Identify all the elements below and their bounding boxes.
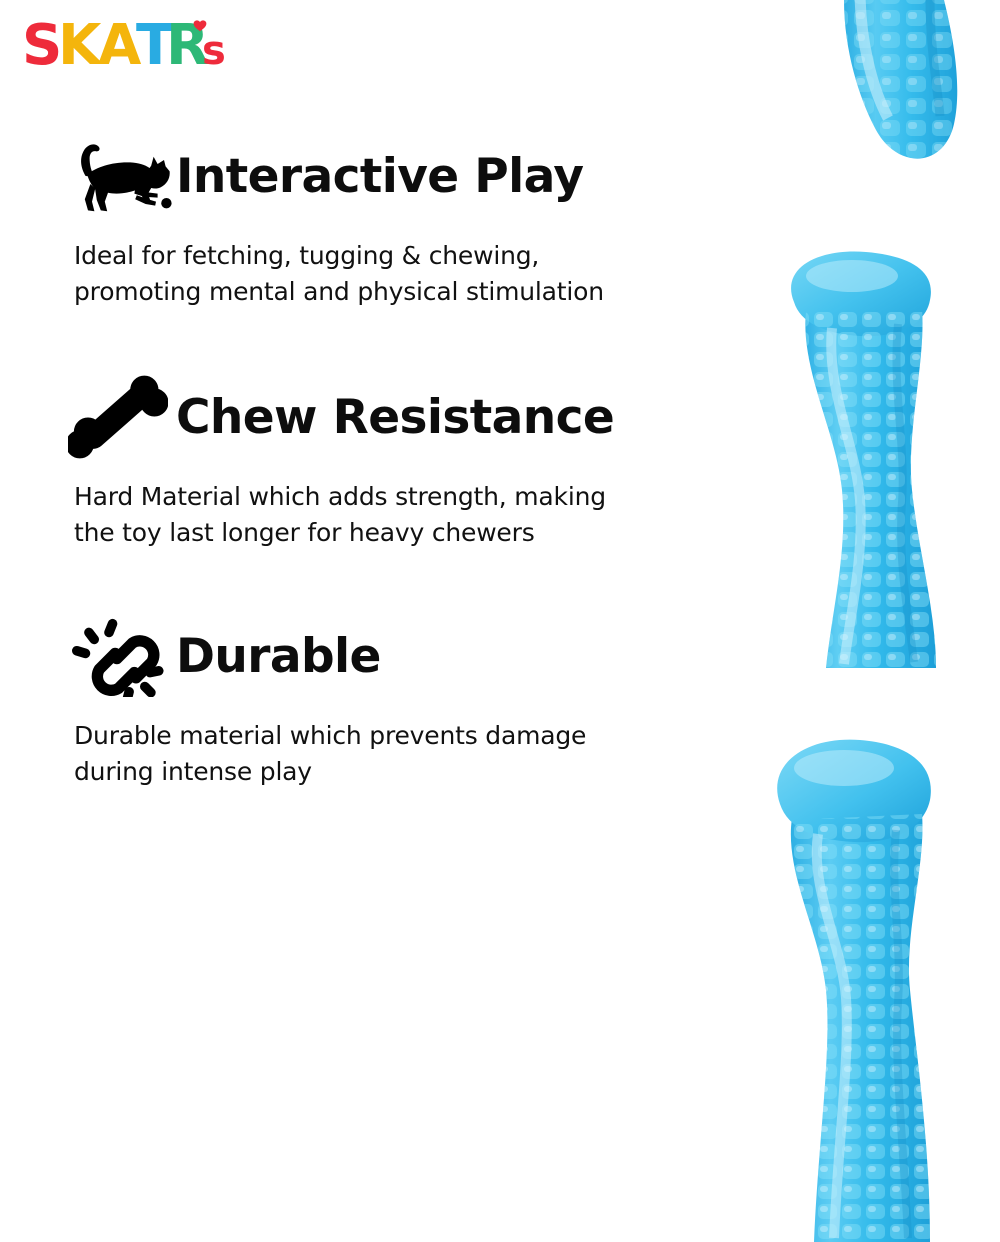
chain-link-icon [68,610,172,702]
logo-letter-s1: S [22,13,59,78]
feature-title: Chew Resistance [176,394,614,441]
brand-logo: S K A T R s [14,8,234,80]
feature-header: Interactive Play [0,128,680,224]
feature-description: Hard Material which adds strength, makin… [0,479,680,550]
feature-header: Durable [0,608,680,704]
feature-title: Interactive Play [176,153,583,200]
feature-description: Durable material which prevents damage d… [0,718,680,789]
feature-chew-resistance: Chew Resistance Hard Material which adds… [0,369,680,550]
product-photo-top [748,0,998,220]
bone-icon [68,371,172,463]
logo-letter-s2: s [202,28,224,74]
feature-list: Interactive Play Ideal for fetching, tug… [0,128,680,841]
feature-title: Durable [176,633,381,680]
feature-interactive-play: Interactive Play Ideal for fetching, tug… [0,128,680,309]
product-gallery [720,0,1000,1000]
product-photo-bottom [744,722,994,1242]
feature-description: Ideal for fetching, tugging & chewing, p… [0,238,680,309]
feature-header: Chew Resistance [0,369,680,465]
product-photo-middle [740,250,1000,670]
dog-playing-icon [68,130,172,222]
feature-durable: Durable Durable material which prevents … [0,608,680,789]
